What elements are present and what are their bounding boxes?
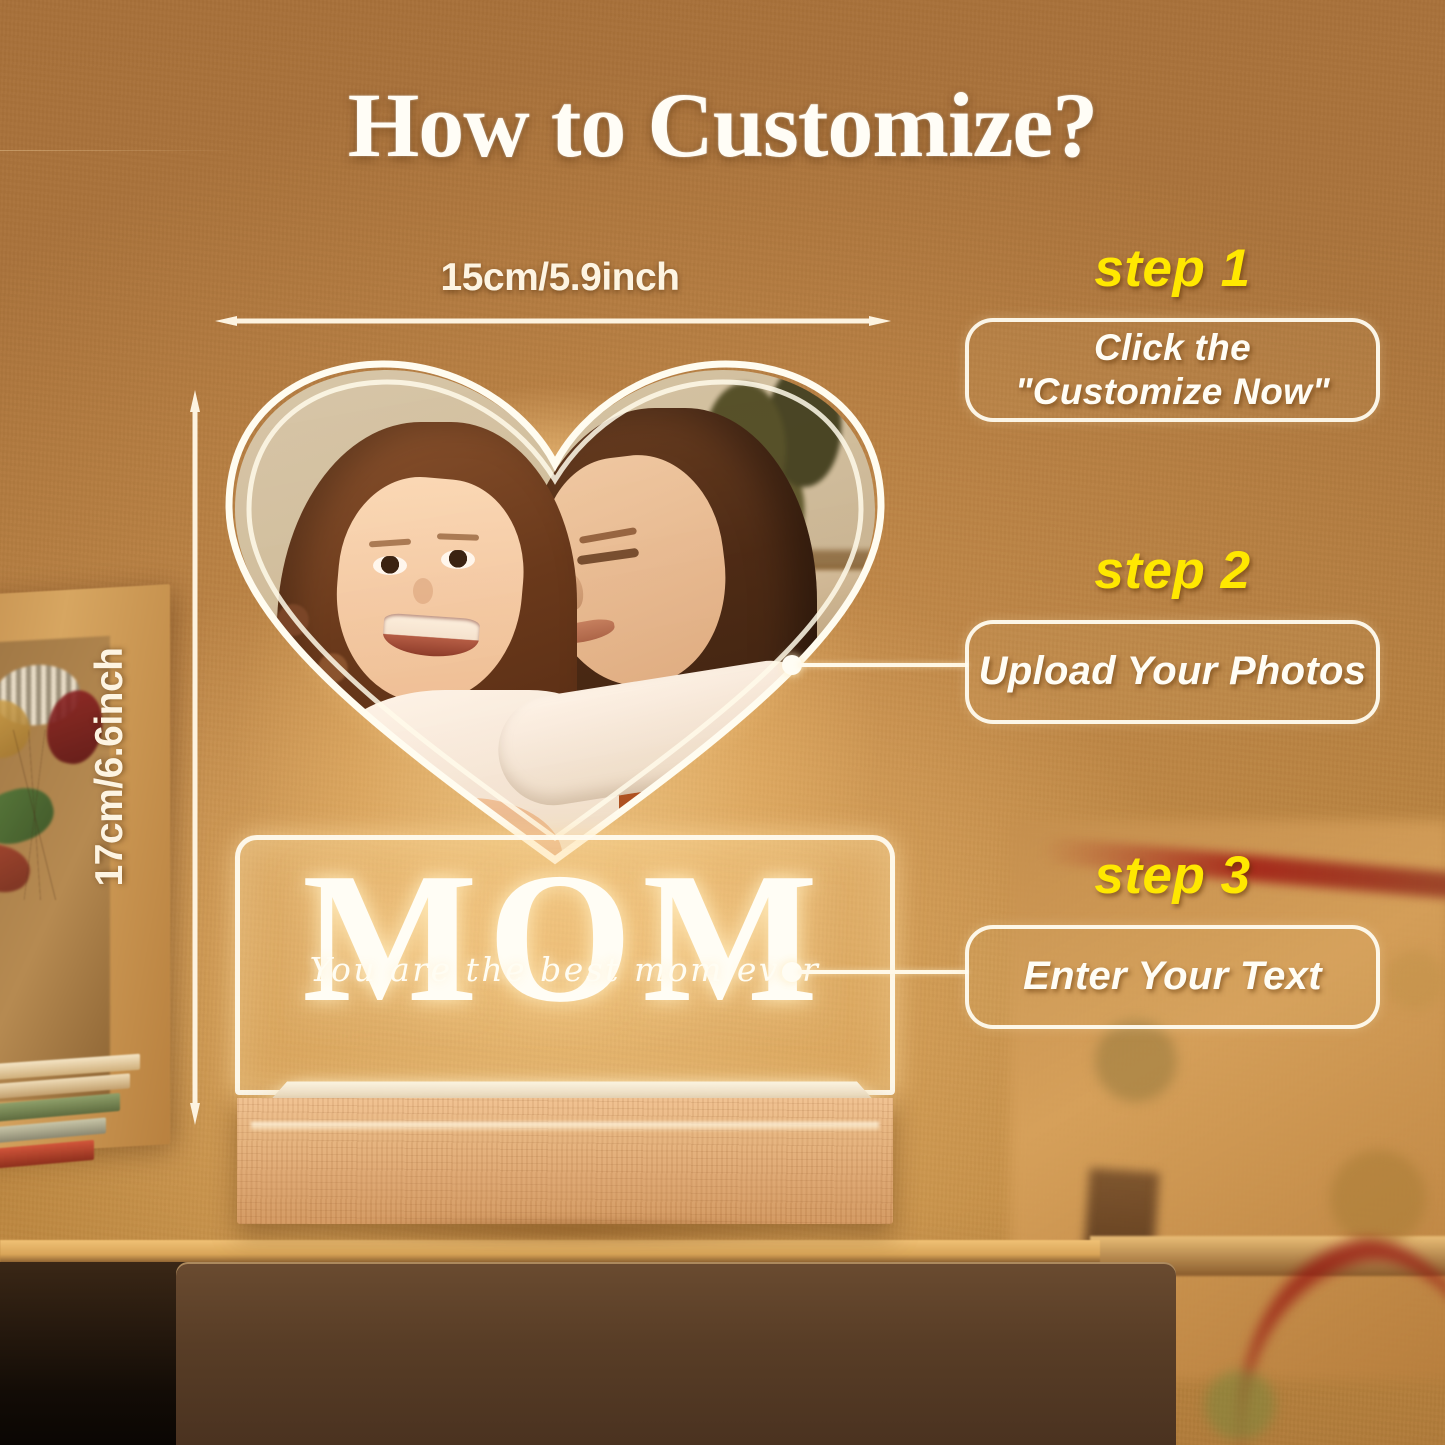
background-dot — [1095, 1020, 1177, 1102]
connector-line-text — [798, 970, 968, 974]
desk-drawer-front — [176, 1262, 1176, 1445]
step-1-box[interactable]: Click the "Customize Now" — [965, 318, 1380, 422]
step-2-text: Upload Your Photos — [979, 648, 1367, 695]
infographic-canvas: How to Customize? 15cm/5.9inch 17cm/6.6i… — [0, 0, 1445, 1445]
connector-line-photo — [798, 663, 968, 667]
background-dot — [1205, 1370, 1275, 1440]
wooden-base — [237, 1068, 893, 1238]
width-dimension-label: 15cm/5.9inch — [380, 256, 740, 300]
step-1-text: Click the "Customize Now" — [1015, 326, 1330, 413]
led-slot-glow — [251, 1122, 879, 1131]
heart-acrylic-panel — [215, 350, 895, 870]
balloon-strings — [0, 730, 100, 900]
wooden-base-shadow — [227, 1218, 917, 1260]
step-1-line2: "Customize Now" — [1015, 370, 1330, 414]
step-3-text: Enter Your Text — [1023, 953, 1322, 1000]
step-2-label: step 2 — [965, 540, 1380, 601]
step-1-line1: Click the — [1015, 326, 1330, 370]
background-dot — [1330, 1150, 1426, 1246]
product-night-lamp: MOM You are the best mom ever — [215, 350, 895, 1280]
height-dimension-label: 17cm/6.6inch — [88, 602, 132, 932]
page-title: How to Customize? — [0, 72, 1445, 178]
step-1-label: step 1 — [965, 238, 1380, 299]
mom-main-text: MOM — [235, 845, 895, 1031]
step-3-box[interactable]: Enter Your Text — [965, 925, 1380, 1029]
step-2-box[interactable]: Upload Your Photos — [965, 620, 1380, 724]
step-3-label: step 3 — [965, 845, 1380, 906]
wooden-base-front — [237, 1098, 893, 1224]
background-dot — [1385, 950, 1445, 1010]
